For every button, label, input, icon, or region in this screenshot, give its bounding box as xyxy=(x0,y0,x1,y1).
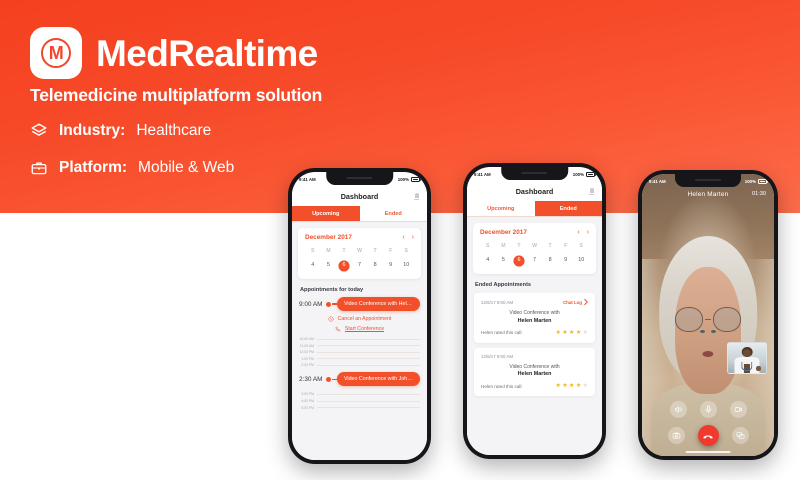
star-icon: ★ xyxy=(555,330,560,336)
video-camera-icon xyxy=(734,405,743,414)
star-icon: ★ xyxy=(569,330,574,336)
tab-ended[interactable]: Ended xyxy=(535,201,603,216)
rating-label: Helen rated this call: xyxy=(481,330,523,335)
calendar-card: December 2017 ‹ › S M T W T F S xyxy=(473,223,596,274)
call-controls-row-1 xyxy=(670,401,747,418)
app-logo: M xyxy=(30,27,82,79)
industry-value: Healthcare xyxy=(136,122,211,140)
call-controls xyxy=(642,401,774,446)
home-indicator xyxy=(686,451,731,453)
calendar-day[interactable]: 4 xyxy=(305,260,321,271)
industry-label: Industry: xyxy=(59,122,125,140)
calendar-prev-button[interactable]: ‹ xyxy=(402,234,404,241)
phone-video-call: 9:41 AM 100% Helen Marten 01:30 xyxy=(638,170,778,460)
person-mouth xyxy=(702,351,713,357)
appointment-label[interactable]: Video Conference with Helen Marten xyxy=(337,297,420,311)
appointment-time: 2:30 AM xyxy=(299,376,325,383)
grid-time: 1:00 PM xyxy=(299,357,314,361)
dow-label: W xyxy=(352,248,368,254)
calendar-day[interactable]: 9 xyxy=(383,260,399,271)
briefcase-icon xyxy=(30,159,48,177)
brand-name: MedRealtime xyxy=(96,35,318,72)
calendar-prev-button[interactable]: ‹ xyxy=(577,229,579,236)
phone-notch xyxy=(675,174,741,187)
grid-line: 2:00 PM xyxy=(299,363,420,367)
grid-line: 12:00 PM xyxy=(299,350,420,354)
calendar-month: December 2017 xyxy=(480,229,527,236)
video-toggle-button[interactable] xyxy=(730,401,747,418)
calendar-card: December 2017 ‹ › S M T W T F S xyxy=(298,228,421,279)
doctor-face xyxy=(743,349,751,357)
calendar-dow-row: S M T W T F S xyxy=(480,243,589,249)
dow-label: W xyxy=(527,243,543,249)
participant-name: Helen Marten xyxy=(481,371,588,377)
appointment-label[interactable]: Video Conference with John Doe xyxy=(337,372,420,386)
conference-subtitle: Video Conference with xyxy=(481,310,588,316)
battery-icon xyxy=(586,172,595,177)
star-icon: ★ xyxy=(569,383,574,389)
grid-line: 4:00 PM xyxy=(299,399,420,403)
speaker-icon xyxy=(674,405,683,414)
calendar-month: December 2017 xyxy=(305,234,352,241)
calendar-next-button[interactable]: › xyxy=(587,229,589,236)
camera-flip-button[interactable] xyxy=(668,427,685,444)
clock-cancel-icon xyxy=(328,316,334,322)
doctor-hand xyxy=(756,366,761,371)
calendar-date-row: 4 5 6 7 8 9 10 xyxy=(480,255,589,266)
card-header: 12/6/17 9:00 AM xyxy=(481,354,588,359)
dow-label: T xyxy=(511,243,527,249)
calendar-nav: ‹ › xyxy=(577,229,589,236)
section-title: Appointments for today xyxy=(300,287,419,293)
phone-notch xyxy=(326,172,394,185)
calendar-date-row: 4 5 6 7 8 9 10 xyxy=(305,260,414,271)
calendar-day[interactable]: 5 xyxy=(321,260,337,271)
grid-line: 10:00 AM xyxy=(299,337,420,341)
grid-line: 3:00 PM xyxy=(299,392,420,396)
calendar-day[interactable]: 7 xyxy=(352,260,368,271)
end-call-button[interactable] xyxy=(698,425,719,446)
call-controls-row-2 xyxy=(668,425,749,446)
tagline: Telemedicine multiplatform solution xyxy=(30,85,322,106)
layers-icon xyxy=(30,122,48,140)
end-call-icon xyxy=(702,430,714,442)
star-icon: ★ xyxy=(555,383,560,389)
calendar-next-button[interactable]: › xyxy=(412,234,414,241)
grid-time: 12:00 PM xyxy=(299,350,314,354)
star-icon-empty: ★ xyxy=(583,330,588,336)
dow-label: S xyxy=(305,248,321,254)
profile-icon[interactable] xyxy=(414,193,419,201)
timeline-dot-icon xyxy=(326,302,331,307)
calendar-nav: ‹ › xyxy=(402,234,414,241)
page-title: Dashboard xyxy=(516,187,554,196)
star-icon-empty: ★ xyxy=(583,383,588,389)
phone-notch xyxy=(501,167,569,180)
appointment-datetime: 12/6/17 9:00 AM xyxy=(481,300,513,305)
screen-share-icon xyxy=(736,431,745,440)
calendar-day[interactable]: 7 xyxy=(527,255,543,266)
chat-log-label: Chat Log xyxy=(563,300,582,305)
calendar-day[interactable]: 8 xyxy=(367,260,383,271)
person-glasses xyxy=(675,307,741,332)
page-title: Dashboard xyxy=(341,192,379,201)
star-rating: ★ ★ ★ ★ ★ xyxy=(555,383,588,389)
calendar-dow-row: S M T W T F S xyxy=(305,248,414,254)
platform-value: Mobile & Web xyxy=(138,159,234,177)
nav-bar: Dashboard xyxy=(467,182,602,201)
dow-label: M xyxy=(321,248,337,254)
battery-indicator: 100% xyxy=(398,177,420,182)
nav-bar: Dashboard xyxy=(292,187,427,206)
calendar-day[interactable]: 10 xyxy=(573,255,589,266)
star-icon: ★ xyxy=(562,383,567,389)
grid-time: 2:00 PM xyxy=(299,363,314,367)
star-rating: ★ ★ ★ ★ ★ xyxy=(555,330,588,336)
calendar-day-selected[interactable]: 6 xyxy=(511,255,527,266)
status-time: 9:41 AM xyxy=(299,177,316,182)
grid-time: 11:00 AM xyxy=(299,344,314,348)
speaker-button[interactable] xyxy=(670,401,687,418)
battery-percent: 100% xyxy=(745,179,756,184)
battery-percent: 100% xyxy=(398,177,409,182)
appointment-datetime: 12/6/17 9:00 AM xyxy=(481,354,513,359)
promo-banner-graphic: M MedRealtime Telemedicine multiplatform… xyxy=(0,0,800,480)
card-header: 12/6/17 9:00 AM Chat Log xyxy=(481,299,588,305)
grid-time: 5:00 PM xyxy=(299,406,314,410)
participant-name: Helen Marten xyxy=(481,318,588,324)
star-icon: ★ xyxy=(562,330,567,336)
cancel-appointment-label: Cancel an Appointment xyxy=(338,316,392,322)
timeline-dot-icon xyxy=(326,377,331,382)
brand-row: M MedRealtime xyxy=(30,27,318,79)
calendar-day[interactable]: 8 xyxy=(542,255,558,266)
camera-flip-icon xyxy=(672,431,681,440)
section-title: Ended Appointments xyxy=(475,282,594,288)
phone-upcoming: 9:41 AM 100% Dashboard Upcoming Ended De… xyxy=(288,168,431,464)
grid-time: 10:00 AM xyxy=(299,337,314,341)
calendar-header: December 2017 ‹ › xyxy=(480,229,589,236)
call-timer: 01:30 xyxy=(752,191,766,197)
tab-upcoming[interactable]: Upcoming xyxy=(467,201,535,216)
dow-label: F xyxy=(383,248,399,254)
phone-ended: 9:41 AM 100% Dashboard Upcoming Ended De… xyxy=(463,163,606,459)
start-conference-action[interactable]: Start Conference xyxy=(292,326,427,332)
battery-indicator: 100% xyxy=(745,179,767,184)
mute-button[interactable] xyxy=(700,401,717,418)
tab-bar: Upcoming Ended xyxy=(292,206,427,222)
status-time: 9:41 AM xyxy=(649,179,666,184)
appointment-time: 9:00 AM xyxy=(299,301,325,308)
rating-label: Helen rated this call: xyxy=(481,384,523,389)
calendar-day[interactable]: 4 xyxy=(480,255,496,266)
timeline-grid-upper: 10:00 AM 11:00 AM 12:00 PM 1:00 PM 2:00 … xyxy=(299,337,420,367)
battery-icon xyxy=(758,179,767,184)
microphone-muted-icon xyxy=(704,405,713,414)
phone-icon xyxy=(335,326,341,332)
dow-label: S xyxy=(480,243,496,249)
chevron-right-icon xyxy=(584,299,588,305)
grid-line: 5:00 PM xyxy=(299,406,420,410)
calendar-day[interactable]: 10 xyxy=(398,260,414,271)
dow-label: S xyxy=(573,243,589,249)
grid-time: 3:00 PM xyxy=(299,392,314,396)
caller-name: Helen Marten xyxy=(688,191,729,198)
profile-icon[interactable] xyxy=(589,188,594,196)
chat-log-link[interactable]: Chat Log xyxy=(563,299,588,305)
dow-label: S xyxy=(398,248,414,254)
calendar-day[interactable]: 9 xyxy=(558,255,574,266)
calendar-day-selected[interactable]: 6 xyxy=(336,260,352,271)
industry-row: Industry: Healthcare xyxy=(30,122,211,140)
appointment-row[interactable]: 2:30 AM Video Conference with John Doe xyxy=(292,372,427,386)
ended-appointment-card[interactable]: 12/6/17 9:00 AM Chat Log Video Conferenc… xyxy=(474,293,595,343)
screen-share-button[interactable] xyxy=(732,427,749,444)
rating-row: Helen rated this call: ★ ★ ★ ★ ★ xyxy=(481,383,588,389)
ended-appointment-card[interactable]: 12/6/17 9:00 AM Video Conference with He… xyxy=(474,348,595,397)
calendar-day[interactable]: 5 xyxy=(496,255,512,266)
tab-ended[interactable]: Ended xyxy=(360,206,428,221)
appointment-row[interactable]: 9:00 AM Video Conference with Helen Mart… xyxy=(292,297,427,311)
battery-percent: 100% xyxy=(573,172,584,177)
star-icon: ★ xyxy=(576,383,581,389)
conference-subtitle: Video Conference with xyxy=(481,364,588,370)
dow-label: T xyxy=(336,248,352,254)
grid-time: 4:00 PM xyxy=(299,399,314,403)
tab-bar: Upcoming Ended xyxy=(467,201,602,217)
platform-row: Platform: Mobile & Web xyxy=(30,159,234,177)
dow-label: F xyxy=(558,243,574,249)
battery-indicator: 100% xyxy=(573,172,595,177)
tab-upcoming[interactable]: Upcoming xyxy=(292,206,360,221)
timeline-grid-lower: 3:00 PM 4:00 PM 5:00 PM xyxy=(299,392,420,409)
platform-label: Platform: xyxy=(59,159,127,177)
status-time: 9:41 AM xyxy=(474,172,491,177)
grid-line: 11:00 AM xyxy=(299,344,420,348)
dow-label: M xyxy=(496,243,512,249)
self-view-pip[interactable] xyxy=(727,342,767,374)
rating-row: Helen rated this call: ★ ★ ★ ★ ★ xyxy=(481,330,588,336)
battery-icon xyxy=(411,177,420,182)
dow-label: T xyxy=(542,243,558,249)
screen-body: December 2017 ‹ › S M T W T F S xyxy=(467,217,602,455)
call-header: Helen Marten 01:30 xyxy=(642,191,774,198)
dow-label: T xyxy=(367,248,383,254)
cancel-appointment-action[interactable]: Cancel an Appointment xyxy=(292,316,427,322)
grid-line: 1:00 PM xyxy=(299,357,420,361)
calendar-header: December 2017 ‹ › xyxy=(305,234,414,241)
screen-body: December 2017 ‹ › S M T W T F S xyxy=(292,222,427,460)
start-conference-label: Start Conference xyxy=(345,326,384,332)
logo-letter-m: M xyxy=(41,38,71,68)
star-icon: ★ xyxy=(576,330,581,336)
